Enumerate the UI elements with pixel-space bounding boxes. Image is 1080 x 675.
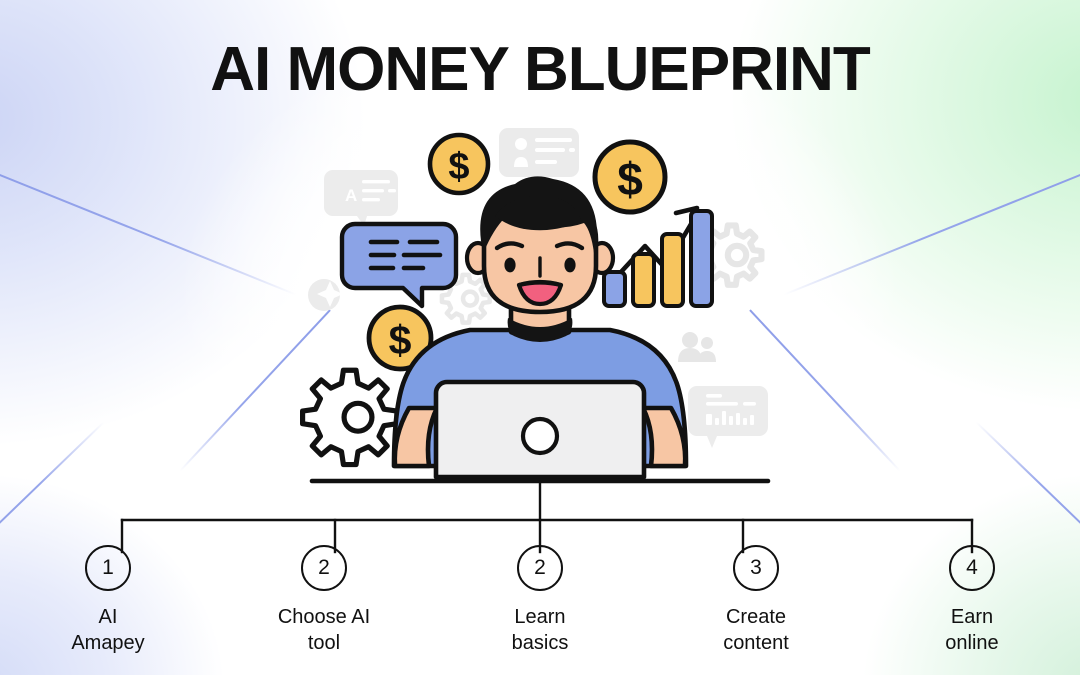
steps-row: 1 AI Amapey 2 Choose AI tool 2 Learn bas…: [0, 545, 1080, 656]
translate-chat-icon: A: [324, 170, 398, 226]
step-4-number: 3: [733, 545, 779, 591]
step-2-number: 2: [301, 545, 347, 591]
speech-bubble: [342, 224, 456, 306]
globe-sparkle-icon: [308, 279, 348, 311]
step-1-number: 1: [85, 545, 131, 591]
svg-text:$: $: [617, 153, 643, 205]
step-2[interactable]: 2 Choose AI tool: [216, 545, 432, 656]
infographic-canvas: AI MONEY BLUEPRINT A: [0, 0, 1080, 675]
gear-icon-large-left: [303, 370, 397, 464]
people-group-icon: [678, 332, 716, 362]
step-4-label: Create content: [723, 605, 789, 656]
step-5-number: 4: [949, 545, 995, 591]
step-1[interactable]: 1 AI Amapey: [0, 545, 216, 656]
svg-text:$: $: [389, 317, 412, 363]
step-3-label: Learn basics: [512, 605, 569, 656]
coin-small-left: $: [430, 135, 488, 193]
step-5[interactable]: 4 Earn online: [864, 545, 1080, 656]
step-4[interactable]: 3 Create content: [648, 545, 864, 656]
step-5-label: Earn online: [945, 605, 998, 656]
growth-bar-chart: [604, 208, 712, 306]
analytics-chat-icon: [688, 386, 768, 448]
illustration-stage: A: [0, 0, 1080, 520]
step-1-label: AI Amapey: [71, 605, 144, 656]
step-2-label: Choose AI tool: [278, 605, 370, 656]
svg-text:$: $: [448, 146, 469, 188]
coin-large-right: $: [595, 142, 665, 212]
step-3-number: 2: [517, 545, 563, 591]
laptop: [436, 382, 644, 477]
svg-text:A: A: [345, 186, 357, 205]
step-3[interactable]: 2 Learn basics: [432, 545, 648, 656]
